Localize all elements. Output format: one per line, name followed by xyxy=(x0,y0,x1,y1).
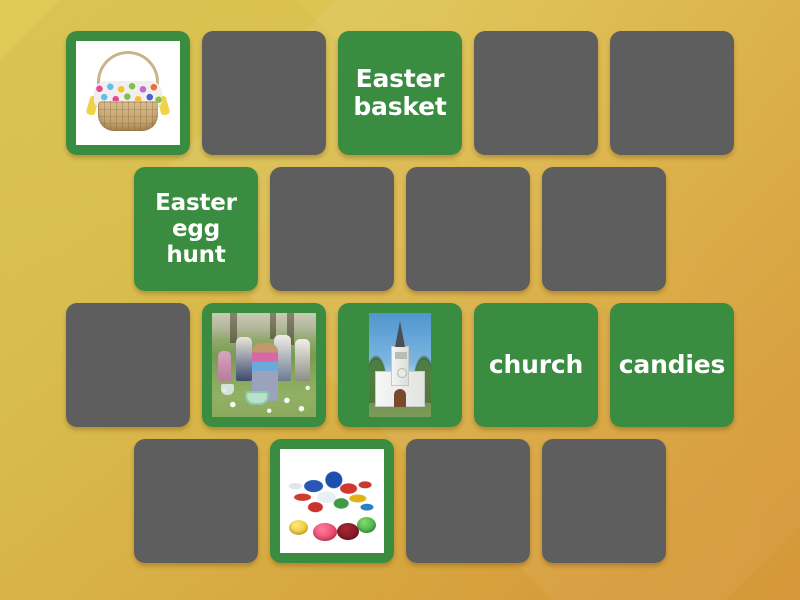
tile-row: Easter basket xyxy=(0,31,800,155)
tile-hidden[interactable] xyxy=(406,439,530,563)
tile-hidden[interactable] xyxy=(202,31,326,155)
tile-candies-text[interactable]: candies xyxy=(610,303,734,427)
tile-hidden[interactable] xyxy=(66,303,190,427)
green-basket-icon xyxy=(245,391,269,405)
basket-body-icon xyxy=(98,101,158,131)
church-tower-icon xyxy=(391,346,409,386)
tile-label: church xyxy=(483,351,589,379)
tile-easter-egg-hunt-image[interactable] xyxy=(202,303,326,427)
tile-church-image[interactable] xyxy=(338,303,462,427)
candies-image xyxy=(280,449,384,553)
tile-row: Easter egg hunt xyxy=(0,167,800,291)
tile-hidden[interactable] xyxy=(134,439,258,563)
tile-easter-egg-hunt-text[interactable]: Easter egg hunt xyxy=(134,167,258,291)
church-spire-icon xyxy=(395,321,405,347)
easter-basket-image xyxy=(76,41,180,145)
tile-hidden[interactable] xyxy=(270,167,394,291)
candy-disc-icon xyxy=(313,523,337,541)
tile-easter-basket-text[interactable]: Easter basket xyxy=(338,31,462,155)
small-basket-icon xyxy=(221,384,234,395)
tile-hidden[interactable] xyxy=(474,31,598,155)
tile-label: Easter basket xyxy=(338,65,462,122)
tile-hidden[interactable] xyxy=(406,167,530,291)
easter-egg-hunt-image xyxy=(212,313,316,417)
image-frame xyxy=(212,313,316,417)
tile-hidden[interactable] xyxy=(542,167,666,291)
tile-row: church candies xyxy=(0,303,800,427)
church-door-icon xyxy=(394,389,406,407)
tile-easter-basket-image[interactable] xyxy=(66,31,190,155)
tile-label: Easter egg hunt xyxy=(134,190,258,268)
candy-disc-icon xyxy=(357,517,376,533)
tile-row xyxy=(0,439,800,563)
image-frame xyxy=(348,313,452,417)
candy-disc-icon xyxy=(337,523,359,540)
candy-disc-icon xyxy=(289,520,308,535)
tile-hidden[interactable] xyxy=(542,439,666,563)
tile-hidden[interactable] xyxy=(610,31,734,155)
matching-pairs-game-board: Easter basket Easter egg hunt xyxy=(0,0,800,600)
tile-church-text[interactable]: church xyxy=(474,303,598,427)
tile-candies-image[interactable] xyxy=(270,439,394,563)
church-image xyxy=(369,313,431,417)
tile-label: candies xyxy=(613,351,731,379)
image-frame xyxy=(76,41,180,145)
image-frame xyxy=(280,449,384,553)
